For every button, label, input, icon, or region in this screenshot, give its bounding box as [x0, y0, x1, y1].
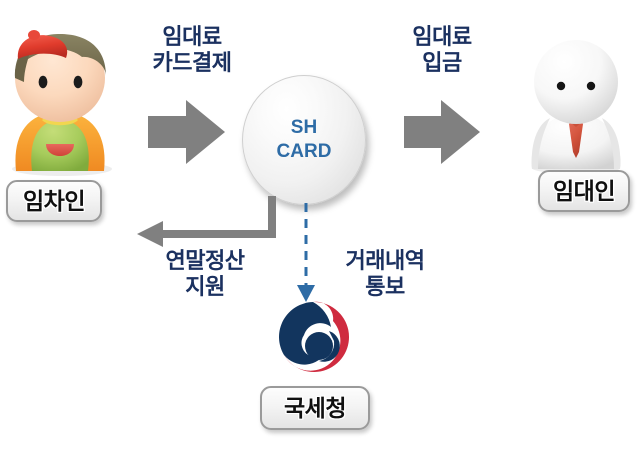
flow-label-tenant-to-shcard: 임대료 카드결제 [118, 24, 266, 76]
tenant-name-plate-label: 임차인 [23, 190, 85, 213]
diagram-canvas: 임차인 [0, 0, 638, 460]
sh-card-node-text: SH CARD [242, 75, 366, 205]
tenant-name-plate: 임차인 [6, 180, 102, 222]
sh-card-line2: CARD [277, 140, 332, 164]
sh-card-line1: SH [291, 116, 317, 140]
flow-label-shcard-to-tenant: 연말정산 지원 [136, 248, 274, 300]
flow-label-shcard-to-nts-line1: 거래내역 [326, 248, 444, 274]
landlord-name-plate-label: 임대인 [553, 180, 615, 203]
flow-label-shcard-to-nts: 거래내역 통보 [326, 248, 444, 300]
korea-government-taegeuk-icon [275, 299, 351, 375]
flow-label-shcard-to-landlord-line2: 입금 [378, 50, 506, 76]
flow-label-tenant-to-shcard-line1: 임대료 [118, 24, 266, 50]
landlord-name-plate: 임대인 [538, 170, 630, 212]
flow-label-shcard-to-landlord: 임대료 입금 [378, 24, 506, 76]
tenant-person-icon [2, 26, 118, 178]
landlord-person-icon [520, 36, 632, 176]
nts-name-plate: 국세청 [260, 386, 370, 430]
flow-label-shcard-to-tenant-line2: 지원 [136, 274, 274, 300]
arrow-shcard-to-nts [297, 203, 315, 302]
arrow-shcard-to-landlord [404, 100, 480, 164]
flow-label-shcard-to-landlord-line1: 임대료 [378, 24, 506, 50]
sh-card-node[interactable]: SH CARD [242, 75, 366, 205]
nts-name-plate-label: 국세청 [284, 397, 346, 420]
flow-label-shcard-to-tenant-line1: 연말정산 [136, 248, 274, 274]
flow-label-tenant-to-shcard-line2: 카드결제 [118, 50, 266, 76]
flow-label-shcard-to-nts-line2: 통보 [326, 274, 444, 300]
arrow-tenant-to-shcard [148, 100, 225, 164]
